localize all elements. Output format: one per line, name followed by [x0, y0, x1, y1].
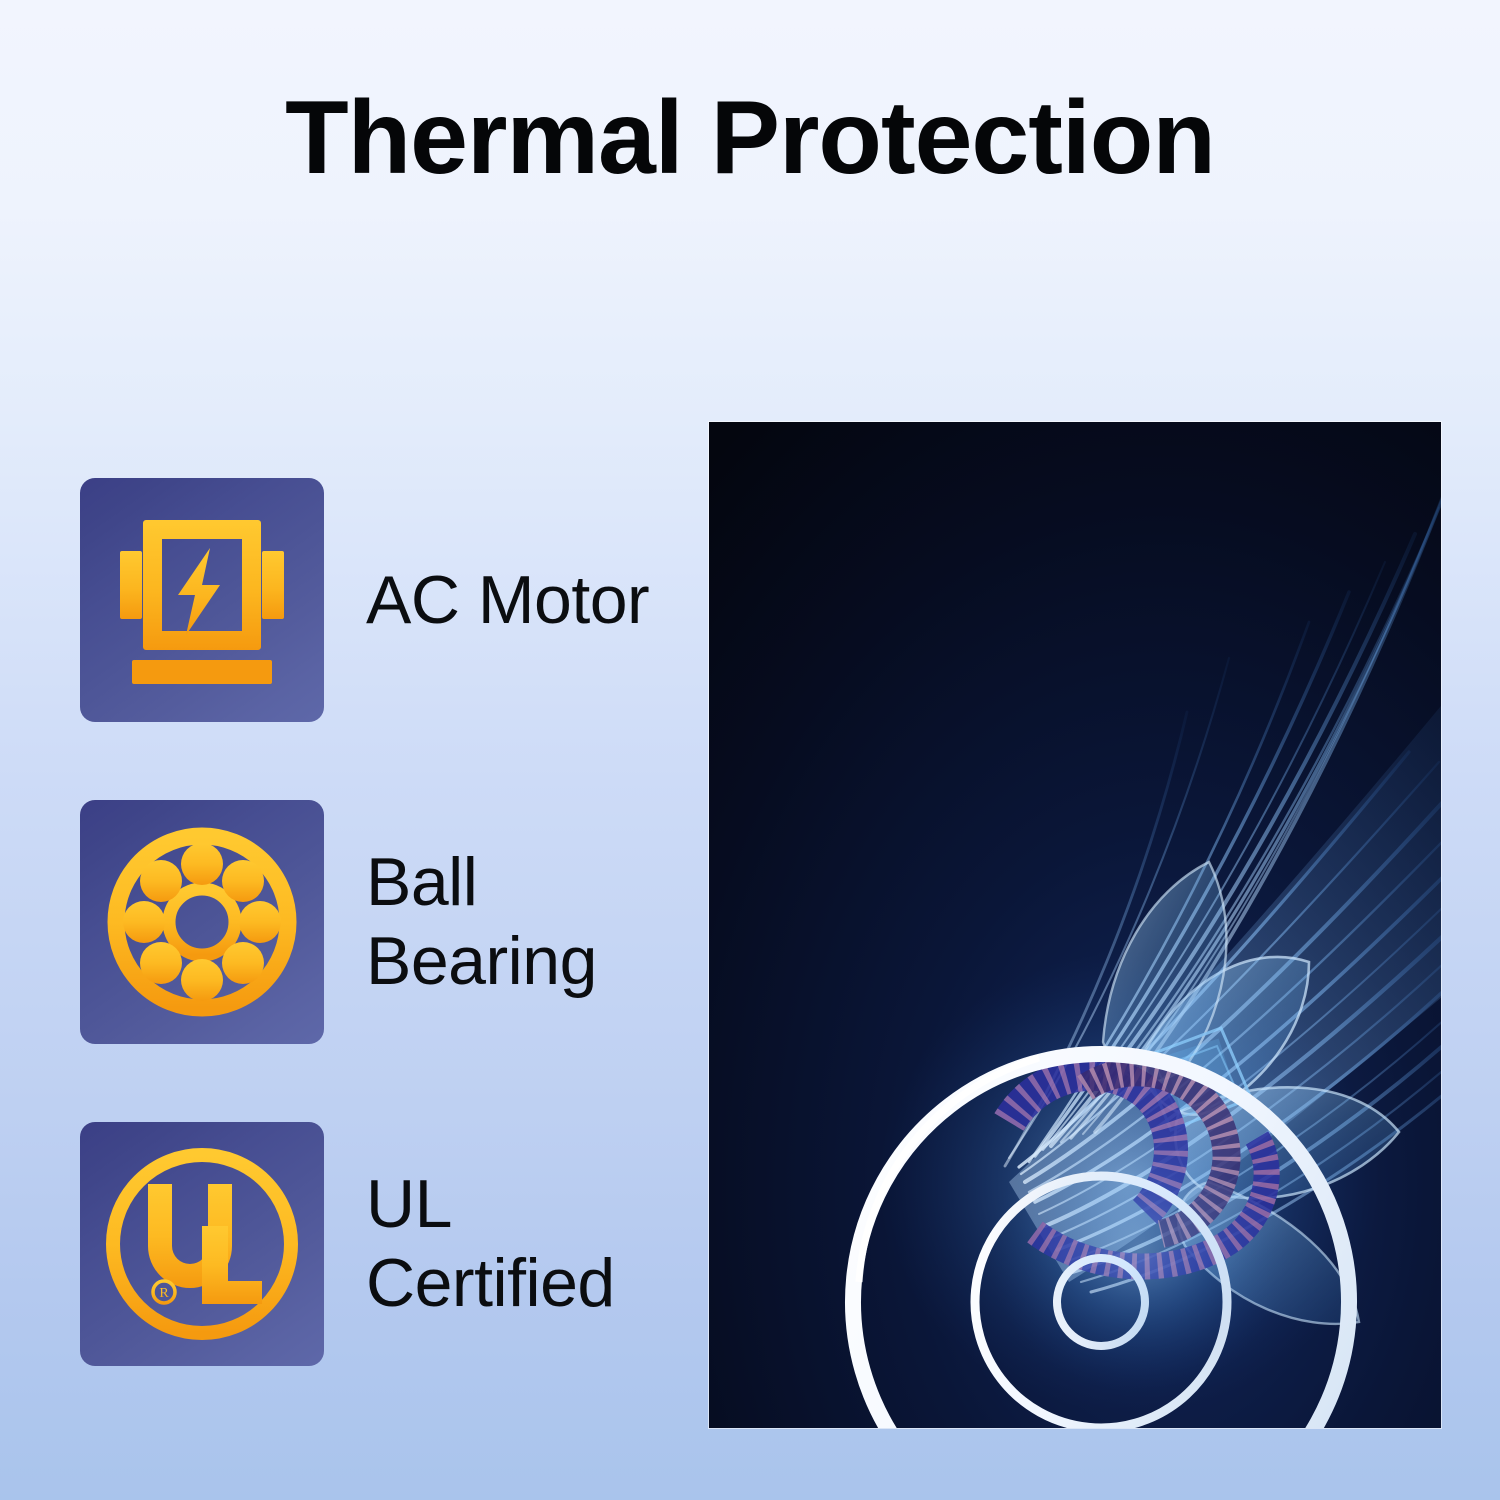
- feature-label-line: AC Motor: [366, 561, 649, 640]
- svg-text:R: R: [159, 1286, 169, 1301]
- feature-item-ul-certified: R UL Certified: [80, 1122, 680, 1366]
- feature-label-ac-motor: AC Motor: [366, 561, 649, 640]
- ac-motor-icon: [80, 478, 324, 722]
- feature-icon-tile-ball-bearing: [80, 800, 324, 1044]
- feature-list: AC Motor: [80, 478, 680, 1366]
- fan-motor-airflow-photo: [709, 422, 1441, 1428]
- feature-label-ball-bearing: Ball Bearing: [366, 843, 597, 1001]
- feature-label-ul-certified: UL Certified: [366, 1165, 615, 1323]
- feature-label-line: Ball: [366, 843, 597, 922]
- feature-label-line: Certified: [366, 1244, 615, 1323]
- feature-item-ball-bearing: Ball Bearing: [80, 800, 680, 1044]
- product-feature-graphic: Thermal Protection: [0, 0, 1500, 1500]
- ul-certified-icon: R: [80, 1122, 324, 1366]
- feature-icon-tile-ul-certified: R: [80, 1122, 324, 1366]
- ball-bearing-icon: [80, 800, 324, 1044]
- feature-label-line: Bearing: [366, 922, 597, 1001]
- feature-item-ac-motor: AC Motor: [80, 478, 680, 722]
- feature-label-line: UL: [366, 1165, 615, 1244]
- feature-icon-tile-ac-motor: [80, 478, 324, 722]
- page-title: Thermal Protection: [0, 86, 1500, 190]
